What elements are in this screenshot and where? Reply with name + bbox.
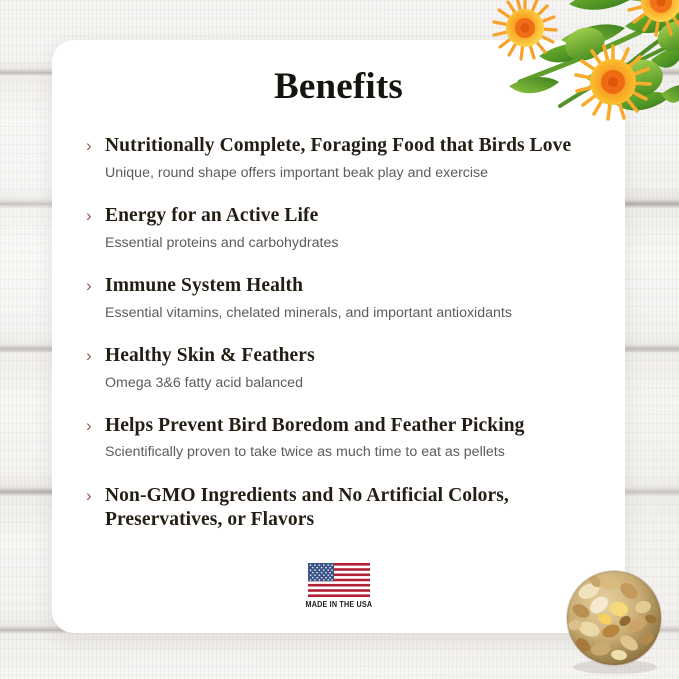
benefit-heading: Nutritionally Complete, Foraging Food th… (105, 134, 591, 159)
benefit-item: › Non-GMO Ingredients and No Artificial … (86, 484, 591, 534)
benefit-heading: Immune System Health (105, 274, 591, 299)
chevron-right-icon: › (86, 207, 105, 224)
benefits-card: Benefits › Nutritionally Complete, Forag… (52, 40, 625, 633)
benefit-item: › Helps Prevent Bird Boredom and Feather… (86, 414, 591, 463)
chevron-right-icon: › (86, 417, 105, 434)
benefit-subtext: Essential vitamins, chelated minerals, a… (105, 304, 591, 323)
benefit-item: › Immune System Health Essential vitamin… (86, 274, 591, 323)
benefit-text-block: Immune System Health Essential vitamins,… (105, 274, 591, 323)
benefit-item: › Energy for an Active Life Essential pr… (86, 204, 591, 253)
benefit-heading: Non-GMO Ingredients and No Artificial Co… (105, 484, 591, 534)
chevron-right-icon: › (86, 487, 105, 504)
chevron-right-icon: › (86, 347, 105, 364)
benefit-heading: Healthy Skin & Feathers (105, 344, 591, 369)
benefit-item: › Nutritionally Complete, Foraging Food … (86, 134, 591, 183)
benefit-text-block: Non-GMO Ingredients and No Artificial Co… (105, 484, 591, 534)
usa-flag-icon (308, 563, 370, 597)
benefit-subtext: Unique, round shape offers important bea… (105, 164, 591, 183)
chevron-right-icon: › (86, 137, 105, 154)
benefit-heading: Energy for an Active Life (105, 204, 591, 229)
page-title: Benefits (52, 40, 625, 108)
benefit-text-block: Helps Prevent Bird Boredom and Feather P… (105, 414, 591, 463)
benefit-subtext: Scientifically proven to take twice as m… (105, 443, 591, 462)
chevron-right-icon: › (86, 277, 105, 294)
benefit-subtext: Omega 3&6 fatty acid balanced (105, 374, 591, 393)
benefit-text-block: Healthy Skin & Feathers Omega 3&6 fatty … (105, 344, 591, 393)
benefit-text-block: Nutritionally Complete, Foraging Food th… (105, 134, 591, 183)
benefit-subtext: Essential proteins and carbohydrates (105, 234, 591, 253)
benefit-heading: Helps Prevent Bird Boredom and Feather P… (105, 414, 591, 439)
benefits-list: › Nutritionally Complete, Foraging Food … (52, 108, 625, 533)
benefit-item: › Healthy Skin & Feathers Omega 3&6 fatt… (86, 344, 591, 393)
benefit-text-block: Energy for an Active Life Essential prot… (105, 204, 591, 253)
made-in-usa-label: MADE IN THE USA (305, 600, 372, 609)
made-in-usa-badge: MADE IN THE USA (52, 563, 625, 609)
